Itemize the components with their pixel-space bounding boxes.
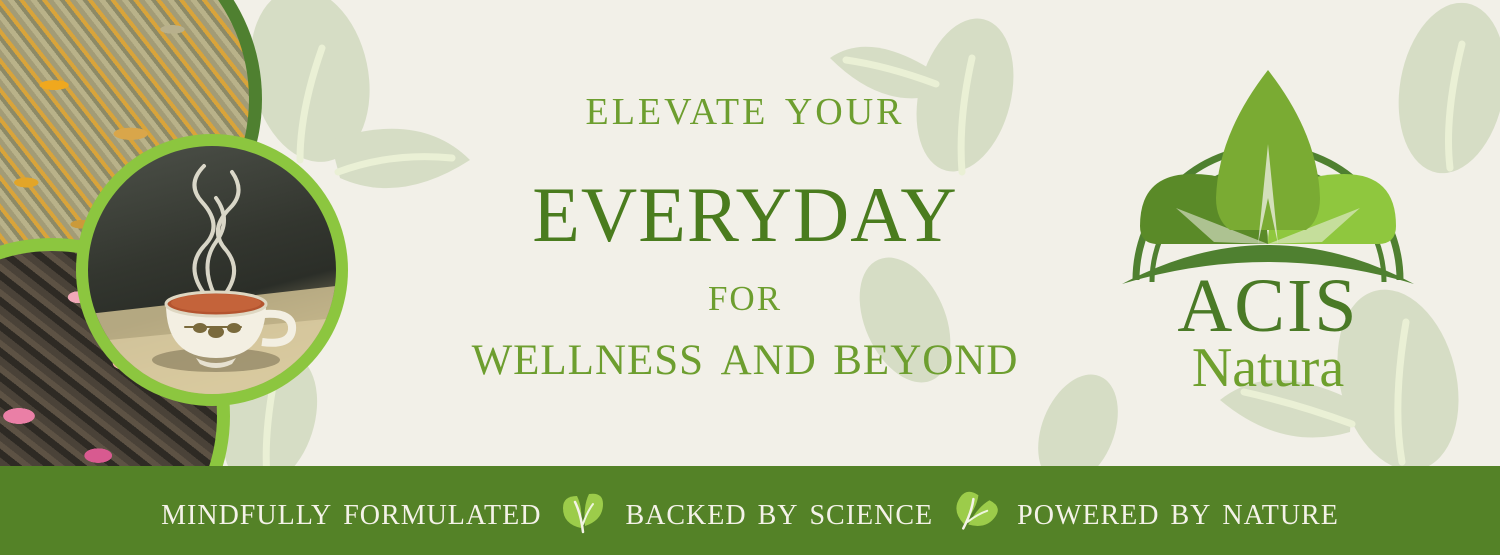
three-leaf-circle-emblem-icon xyxy=(1118,48,1418,298)
leaf-sprout-icon xyxy=(559,488,607,534)
headline-block: Elevate Your Everyday For Wellness and B… xyxy=(380,0,1110,466)
steaming-teacup-image xyxy=(88,146,336,394)
benefit-powered-by-nature: Powered by Nature xyxy=(1017,491,1339,531)
benefits-strip: Mindfully Formulated Backed by Science P… xyxy=(0,466,1500,555)
leaf-sprig-icon xyxy=(951,488,999,534)
acis-natura-logo[interactable]: ACIS Natura xyxy=(1118,48,1418,378)
promotional-banner: Elevate Your Everyday For Wellness and B… xyxy=(0,0,1500,555)
headline-line-for: For xyxy=(708,268,782,318)
benefit-mindfully-formulated: Mindfully Formulated xyxy=(161,491,541,531)
product-photo-collage xyxy=(0,0,380,470)
headline-line-elevate-your: Elevate Your xyxy=(585,79,904,133)
logo-tagline: Natura xyxy=(1118,340,1418,396)
benefit-backed-by-science: Backed by Science xyxy=(625,491,933,531)
steaming-teacup-photo xyxy=(76,134,348,406)
headline-line-wellness-and-beyond: Wellness and Beyond xyxy=(472,322,1019,387)
headline-line-everyday: Everyday xyxy=(532,147,958,261)
logo-brand-name: ACIS xyxy=(1118,268,1418,344)
